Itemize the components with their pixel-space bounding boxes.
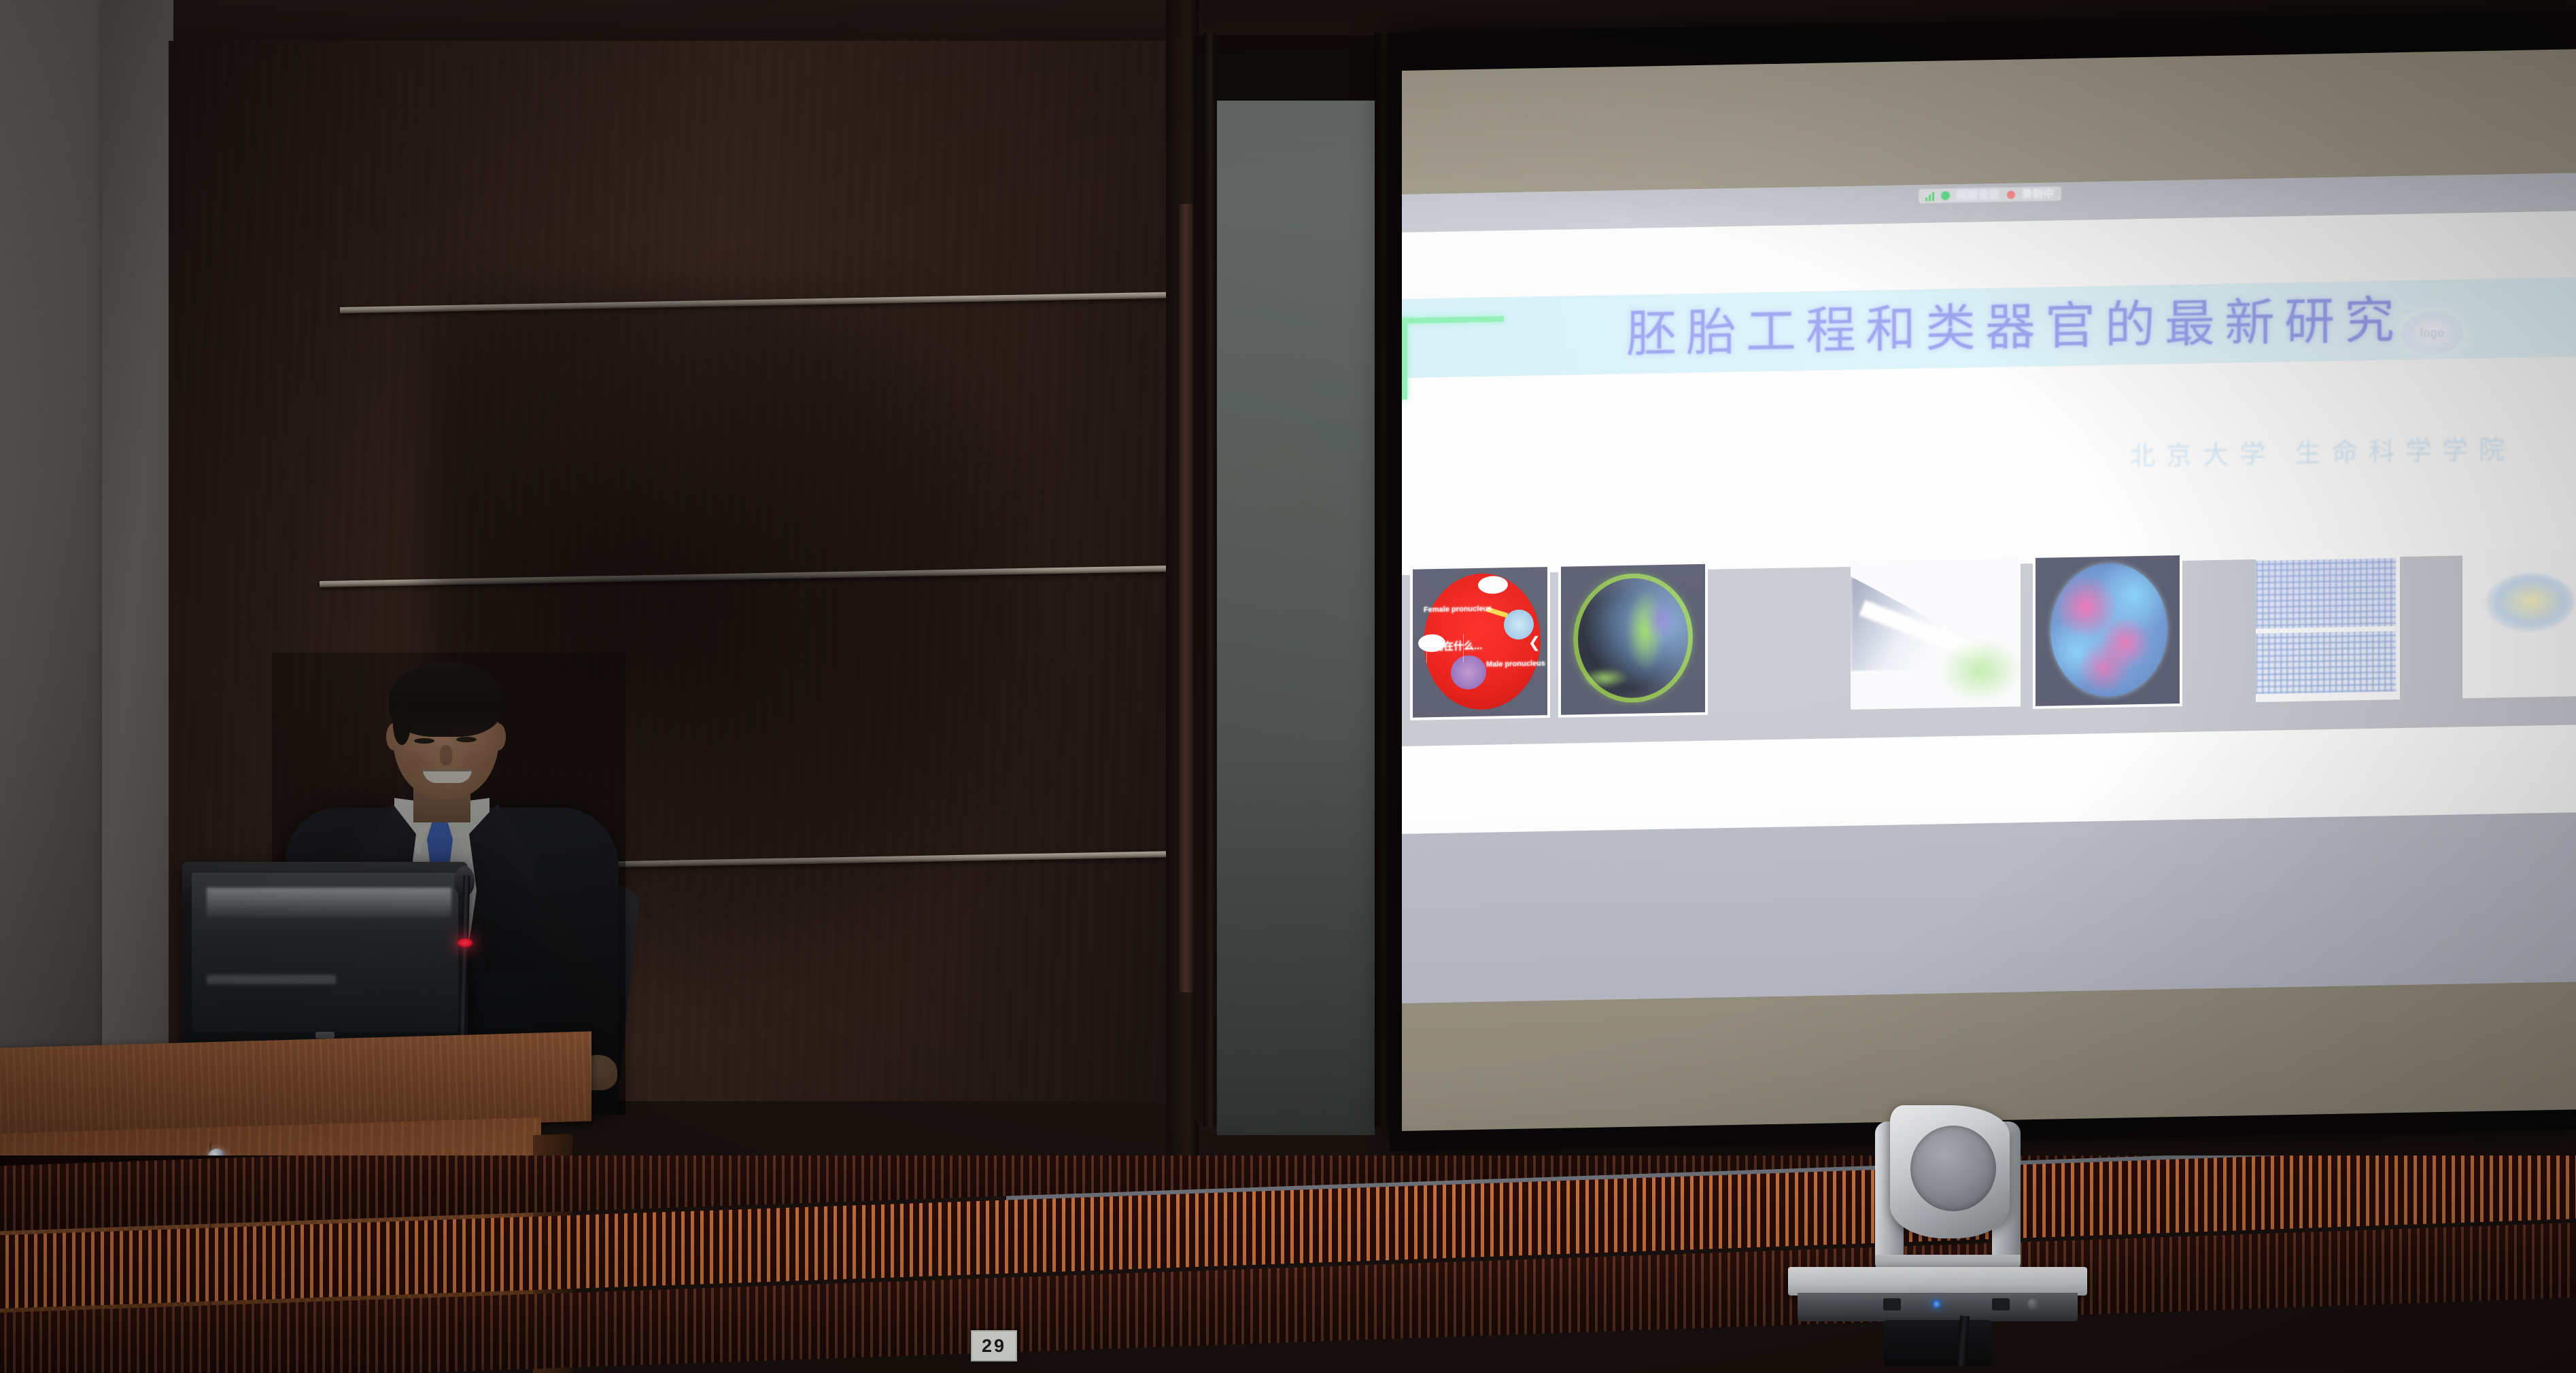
presenter-monitor[interactable] xyxy=(182,862,468,1059)
seat-number-tag: 29 xyxy=(971,1330,1017,1361)
cell-cluster-shape xyxy=(2486,572,2574,632)
signal-bars-icon xyxy=(1925,191,1934,201)
presenter-hair xyxy=(389,662,503,737)
organoid-shape xyxy=(2050,562,2167,697)
presenter-smile xyxy=(423,769,472,783)
monitor-screen xyxy=(192,873,458,1032)
slide-watermark-logo: logo xyxy=(2401,311,2464,355)
thumbnail-blastocyst-fluorescence xyxy=(1561,564,1705,715)
presenter-nose xyxy=(440,745,452,765)
mic-active-led-icon xyxy=(457,938,473,948)
projection-screen-surface: 网络会议 录制中 胚胎工程和类器官的最新研究 北京大学 生命科学学院 xyxy=(1402,49,2576,1131)
monitor-glare xyxy=(207,975,336,984)
corner-bracket-top-left-v xyxy=(1402,318,1407,400)
slide-footer xyxy=(1402,725,2576,1003)
thumbnail-microarray-grid xyxy=(2256,551,2400,702)
frosted-glass-pane xyxy=(1217,101,1375,1135)
label-male-pronucleus: Male pronucleus xyxy=(1486,659,1545,670)
meeting-status-overlay: 网络会议 录制中 xyxy=(1919,186,2061,203)
thumbnail-micromanipulation xyxy=(1851,558,2021,710)
label-female-pronucleus: Female pronucleus xyxy=(1424,605,1492,615)
lecture-hall-scene: 网络会议 录制中 胚胎工程和类器官的最新研究 北京大学 生命科学学院 xyxy=(0,0,2576,1373)
monitor-glare xyxy=(207,888,451,918)
divider xyxy=(1426,634,1427,663)
meeting-status-text: 网络会议 xyxy=(1957,190,2000,201)
recording-status-text: 录制中 xyxy=(2022,188,2055,199)
monitor-power-button[interactable] xyxy=(315,1032,334,1039)
camera-adjust-knob[interactable] xyxy=(2027,1298,2040,1310)
green-fluorescence xyxy=(1581,667,1629,689)
door-rail xyxy=(1180,204,1195,992)
presenter-eye-right xyxy=(456,737,477,742)
camera-lens-icon xyxy=(1910,1126,1996,1211)
presenter-eye-left xyxy=(414,738,434,744)
door-mullion-right xyxy=(1375,33,1391,1127)
projected-slide: 网络会议 录制中 胚胎工程和类器官的最新研究 北京大学 生命科学学院 xyxy=(1402,173,2576,1003)
slide-subtitle: 北京大学 生命科学学院 xyxy=(2129,428,2515,472)
label-center-text: 现在什么... xyxy=(1433,642,1483,651)
green-glow xyxy=(1940,638,2021,702)
door-mullion-left xyxy=(1203,33,1216,1127)
slide-thumbnail-row: Female pronucleus 现在什么... Male pronucleu… xyxy=(1402,548,2576,746)
camera-port[interactable] xyxy=(1883,1298,1901,1310)
presenter-cheek-right xyxy=(464,753,488,771)
chevron-left-icon: ❮ xyxy=(1528,635,1541,650)
camera-power-led-icon xyxy=(1932,1300,1941,1308)
recording-dot-icon xyxy=(2007,190,2015,198)
ptz-video-camera[interactable] xyxy=(1788,1094,2087,1366)
audience-seating-rows xyxy=(0,1155,2576,1373)
thumbnail-pronuclei-diagram: Female pronucleus 现在什么... Male pronucleu… xyxy=(1413,567,1547,718)
thumbnail-organoid-immunostain xyxy=(2036,555,2180,706)
watermark-text: logo xyxy=(2401,311,2464,355)
thumbnail-cell-cluster-faint xyxy=(2462,548,2576,698)
camera-port[interactable] xyxy=(1992,1298,2010,1310)
connected-dot-icon xyxy=(1941,191,1950,200)
camera-base-plate xyxy=(1788,1267,2087,1296)
purple-fluorescence xyxy=(1644,600,1677,642)
camera-mount-bracket xyxy=(1883,1320,1992,1366)
